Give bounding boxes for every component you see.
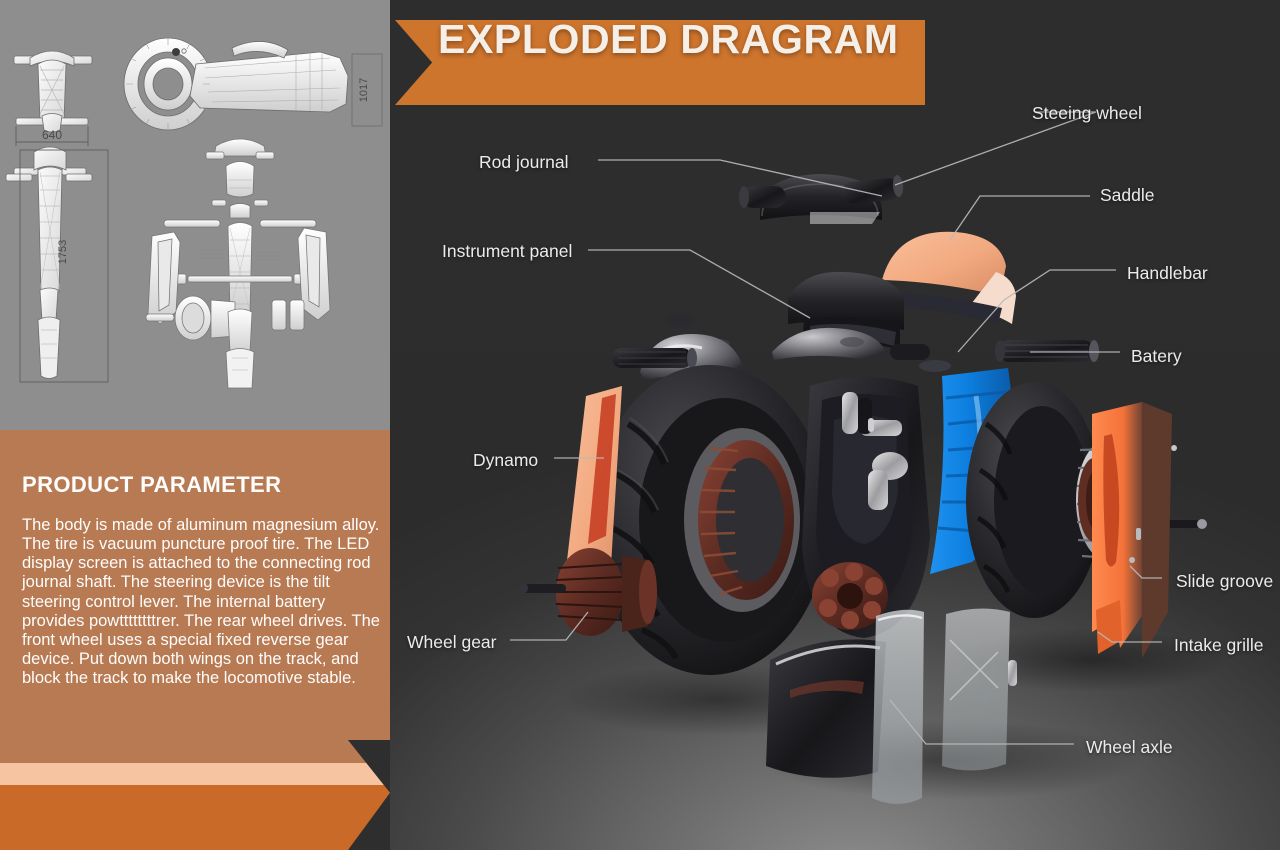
blueprint-exploded-plan: [146, 139, 330, 388]
left-column: 640: [0, 0, 390, 850]
callout-steering-wheel: Steeing wheel: [1032, 103, 1142, 124]
callout-labels: Steeing wheel Rod journal Saddle Instrum…: [390, 0, 1280, 850]
callout-wheel-axle: Wheel axle: [1086, 737, 1173, 758]
callout-batery: Batery: [1131, 346, 1182, 367]
callout-handlebar: Handlebar: [1127, 263, 1208, 284]
callout-dynamo: Dynamo: [473, 450, 538, 471]
blueprint-wheel-detail: [124, 38, 348, 130]
dimension-640-value: 640: [42, 128, 62, 142]
decorative-band-light: [0, 763, 390, 785]
exploded-view-stage: Steeing wheel Rod journal Saddle Instrum…: [390, 0, 1280, 850]
blueprint-drawings: 640: [0, 0, 390, 430]
decorative-band-bottom: [0, 785, 390, 850]
blueprint-front-view: [14, 51, 92, 132]
product-parameter-body: The body is made of aluminum magnesium a…: [22, 516, 390, 688]
callout-rod-journal: Rod journal: [479, 152, 569, 173]
blueprint-side-elevation: [6, 147, 92, 379]
callout-intake-grille: Intake grille: [1174, 635, 1264, 656]
callout-saddle: Saddle: [1100, 185, 1155, 206]
dimension-1017-value: 1017: [358, 78, 370, 102]
callout-wheel-gear: Wheel gear: [407, 632, 497, 653]
decorative-band-top: [0, 740, 390, 763]
product-parameter-title: PRODUCT PARAMETER: [22, 472, 281, 498]
product-parameter-panel: PRODUCT PARAMETER The body is made of al…: [0, 430, 390, 740]
exploded-diagram-page: 640: [0, 0, 1280, 850]
callout-slide-groove: Slide groove: [1176, 571, 1273, 592]
dimension-1753-value: 1753: [57, 240, 69, 264]
technical-blueprint-panel: 640: [0, 0, 390, 430]
callout-instrument-panel: Instrument panel: [442, 241, 572, 262]
dimension-1753: [20, 150, 108, 382]
